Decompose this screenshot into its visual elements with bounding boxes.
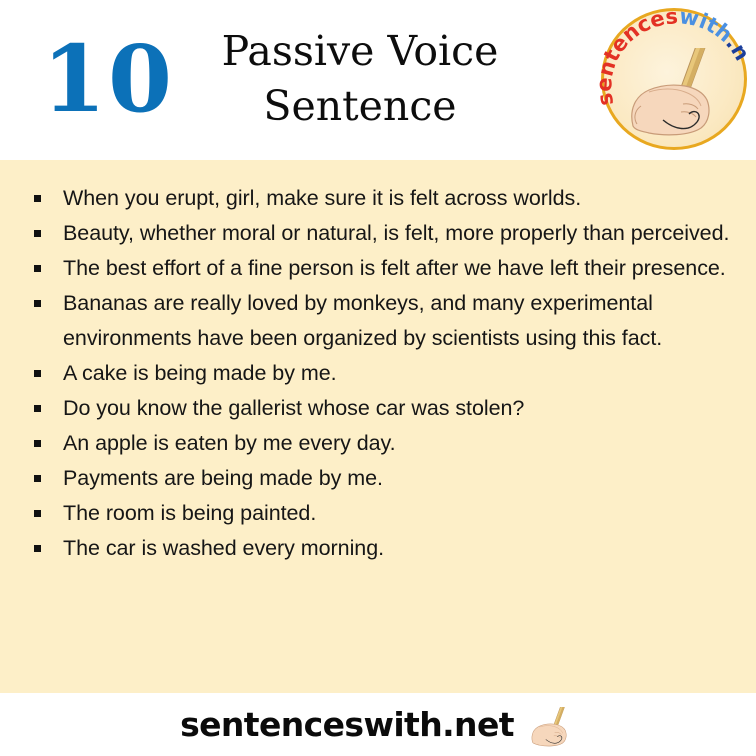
page-title-line-1: Passive Voice [222,27,499,75]
list-item-text: A cake is being made by me. [63,361,337,385]
list-item: Beauty, whether moral or natural, is fel… [33,216,733,251]
footer-brand[interactable]: sentenceswith.net [0,693,756,756]
list-item-text: Do you know the gallerist whose car was … [63,396,524,420]
list-item-text: Payments are being made by me. [63,466,383,490]
bullet-square-icon [34,475,41,482]
sentence-list: When you erupt, girl, make sure it is fe… [33,181,733,566]
list-item-text: When you erupt, girl, make sure it is fe… [63,186,581,210]
footer-bar: sentenceswith.net [0,693,756,756]
list-item-text: The room is being painted. [63,501,316,525]
list-item-text: An apple is eaten by me every day. [63,431,396,455]
list-item-text: The car is washed every morning. [63,536,384,560]
list-item: Payments are being made by me. [33,461,733,496]
list-item-text: Beauty, whether moral or natural, is fel… [63,221,729,245]
list-item: When you erupt, girl, make sure it is fe… [33,181,733,216]
page-title-count: 10 [28,33,188,125]
list-item: The best effort of a fine person is felt… [33,251,733,286]
list-item: A cake is being made by me. [33,356,733,391]
bullet-square-icon [34,230,41,237]
bullet-square-icon [34,195,41,202]
bullet-square-icon [34,265,41,272]
hand-writing-pencil-icon [528,707,576,747]
bullet-square-icon [34,440,41,447]
list-item: The car is washed every morning. [33,531,733,566]
page-title: Passive Voice Sentence [180,24,540,133]
bullet-square-icon [34,300,41,307]
list-item: Bananas are really loved by monkeys, and… [33,286,733,356]
page-title-line-2: Sentence [180,79,540,134]
list-item-text: The best effort of a fine person is felt… [63,256,726,280]
infographic-page: 10 Passive Voice Sentence sentenceswith.… [0,0,756,756]
header-bar: 10 Passive Voice Sentence sentenceswith.… [0,0,756,160]
hand-writing-pencil-icon [623,48,731,136]
list-item-text: Bananas are really loved by monkeys, and… [63,291,662,350]
list-item: An apple is eaten by me every day. [33,426,733,461]
bullet-square-icon [34,405,41,412]
list-item: Do you know the gallerist whose car was … [33,391,733,426]
bullet-square-icon [34,370,41,377]
bullet-square-icon [34,510,41,517]
site-logo[interactable]: sentenceswith.net [601,8,753,154]
sentence-list-panel: When you erupt, girl, make sure it is fe… [0,160,756,693]
footer-brand-text: sentenceswith.net [180,705,514,744]
list-item: The room is being painted. [33,496,733,531]
bullet-square-icon [34,545,41,552]
